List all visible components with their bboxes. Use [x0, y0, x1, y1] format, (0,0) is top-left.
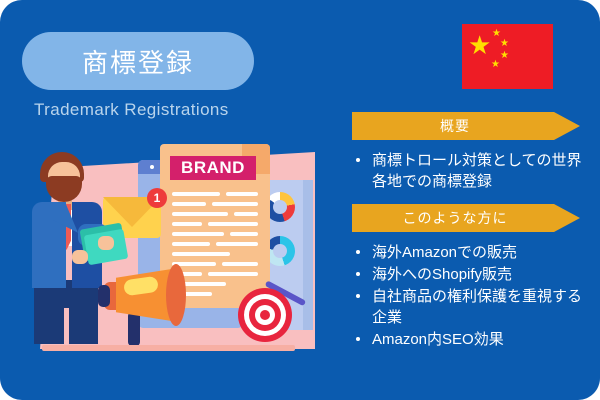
- list-item: Amazon内SEO効果: [352, 329, 584, 350]
- notification-badge: 1: [147, 188, 167, 208]
- megaphone-cap: [98, 285, 110, 307]
- overview-list: 商標トロール対策としての世界各地での商標登録: [352, 150, 584, 192]
- person-leg-gap: [64, 308, 69, 344]
- list-item: 商標トロール対策としての世界各地での商標登録: [352, 150, 584, 192]
- section-banner-audience: このような方に: [352, 204, 580, 232]
- person-hand-left: [72, 250, 88, 264]
- flag-star-large: ★: [468, 32, 491, 58]
- list-item: 海外へのShopify販売: [352, 264, 584, 285]
- section-banner-label: 概要: [440, 116, 492, 136]
- donut-chart-bottom-hole: [273, 244, 287, 258]
- audience-list: 海外Amazonでの販売 海外へのShopify販売 自社商品の権利保護を重視す…: [352, 242, 584, 350]
- hero-illustration: BRAND 1: [20, 140, 320, 355]
- megaphone-mouth: [166, 264, 186, 326]
- content-column: 概要 商標トロール対策としての世界各地での商標登録 このような方に 海外Amaz…: [352, 112, 584, 360]
- megaphone-handle: [128, 312, 140, 346]
- ground-bar: [42, 345, 295, 351]
- section-banner-label: このような方に: [403, 208, 530, 228]
- flag-star-small-4: ★: [491, 60, 500, 70]
- person-hand-right: [98, 236, 114, 250]
- window-dot-icon: [150, 165, 154, 169]
- page-title: 商標登録: [82, 43, 194, 80]
- flag-star-small-3: ★: [500, 51, 509, 61]
- section-banner-overview: 概要: [352, 112, 580, 140]
- brand-label: BRAND: [170, 156, 256, 180]
- target-bullseye: [260, 310, 270, 320]
- china-flag-icon: ★ ★ ★ ★ ★: [462, 24, 553, 89]
- document-brand-band: BRAND: [170, 156, 256, 180]
- page-subtitle: Trademark Registrations: [34, 100, 294, 120]
- flag-star-small-2: ★: [500, 39, 509, 49]
- list-item: 自社商品の権利保護を重視する企業: [352, 286, 584, 328]
- infographic-card: 商標登録 Trademark Registrations ★ ★ ★ ★ ★ 概…: [0, 0, 600, 400]
- list-item: 海外Amazonでの販売: [352, 242, 584, 263]
- page-title-pill: 商標登録: [22, 32, 254, 90]
- donut-chart-top-hole: [273, 200, 287, 214]
